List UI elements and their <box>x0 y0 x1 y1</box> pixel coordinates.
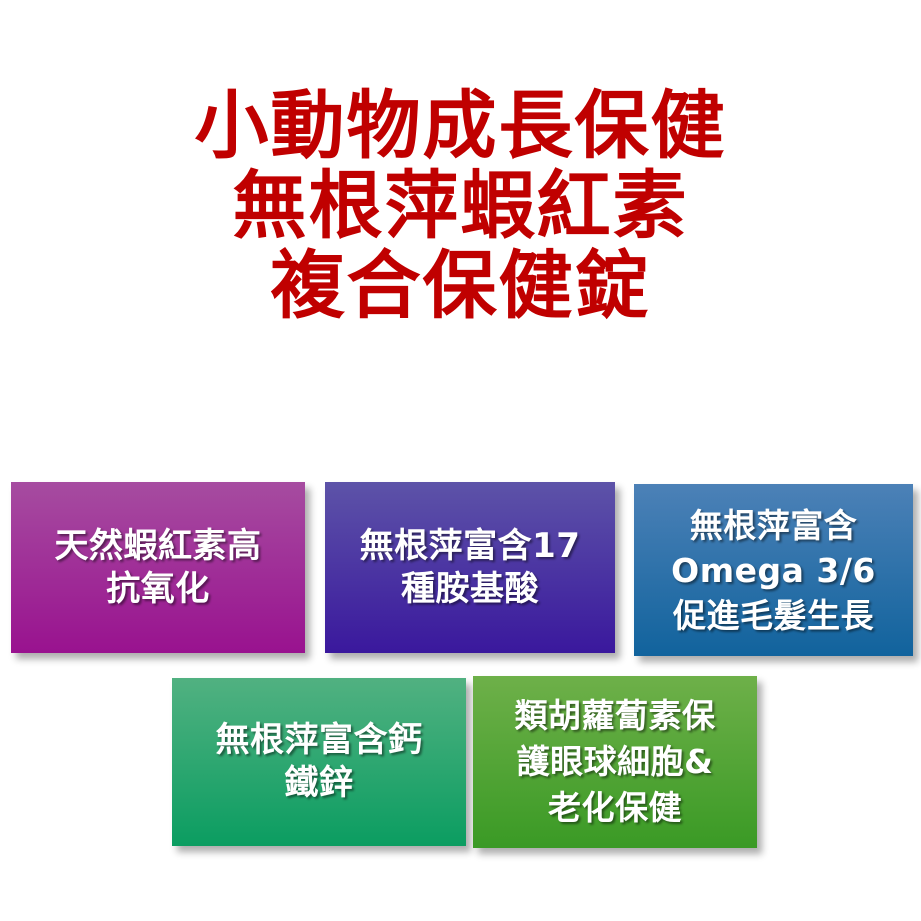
feature-box-label: 無根萍富含 Omega 3/6 促進毛髮生長 <box>640 503 907 638</box>
feature-box-label: 類胡蘿蔔素保 護眼球細胞& 老化保健 <box>479 693 751 831</box>
page-title-line-2: 無根萍蝦紅素 <box>0 166 921 246</box>
feature-box-carotenoid: 類胡蘿蔔素保 護眼球細胞& 老化保健 <box>473 676 757 848</box>
page-title-line-3: 複合保健錠 <box>0 246 921 326</box>
feature-box-amino-acids: 無根萍富含17 種胺基酸 <box>325 482 615 653</box>
page-title-line-1: 小動物成長保健 <box>0 86 921 166</box>
feature-box-antioxidant: 天然蝦紅素高 抗氧化 <box>11 482 305 653</box>
feature-box-minerals: 無根萍富含鈣 鐵鋅 <box>172 678 466 846</box>
feature-box-label: 無根萍富含鈣 鐵鋅 <box>178 719 460 805</box>
feature-box-omega: 無根萍富含 Omega 3/6 促進毛髮生長 <box>634 484 913 656</box>
feature-box-label: 無根萍富含17 種胺基酸 <box>331 525 609 611</box>
page-title: 小動物成長保健 無根萍蝦紅素 複合保健錠 <box>0 86 921 326</box>
feature-box-label: 天然蝦紅素高 抗氧化 <box>17 525 299 611</box>
